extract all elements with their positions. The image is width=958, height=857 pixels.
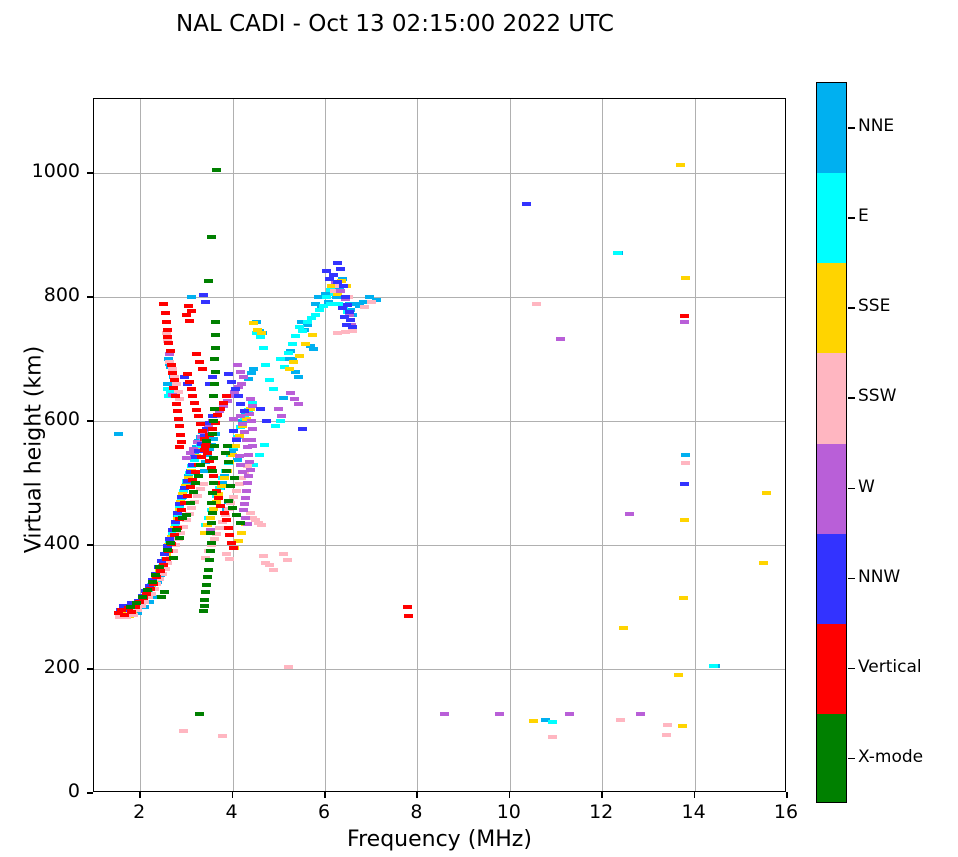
scatter-point — [212, 168, 221, 172]
colorbar-segment-ssw — [817, 353, 846, 444]
colorbar-segment-vertical — [817, 624, 846, 715]
scatter-point — [207, 521, 216, 525]
scatter-point — [241, 516, 250, 520]
scatter-point — [207, 501, 216, 505]
colorbar-tick — [848, 668, 855, 670]
scatter-point — [224, 499, 233, 503]
scatter-point — [342, 323, 351, 327]
scatter-point — [294, 402, 303, 406]
scatter-point — [616, 718, 625, 722]
scatter-point — [238, 470, 247, 474]
scatter-point — [336, 267, 345, 271]
scatter-point — [167, 363, 176, 367]
colorbar-label-nnw: NNW — [858, 567, 900, 587]
scatter-point — [529, 719, 538, 723]
scatter-point — [308, 333, 317, 337]
scatter-point — [284, 665, 293, 669]
scatter-point — [200, 604, 209, 608]
scatter-point — [208, 469, 217, 473]
scatter-point — [522, 202, 531, 206]
scatter-point — [298, 329, 307, 333]
scatter-point — [245, 460, 254, 464]
scatter-point — [271, 424, 280, 428]
scatter-point — [222, 518, 231, 522]
scatter-point — [440, 712, 449, 716]
scatter-point — [198, 429, 207, 433]
scatter-point — [210, 407, 219, 411]
scatter-point — [276, 357, 285, 361]
scatter-point — [209, 394, 218, 398]
scatter-point — [157, 595, 166, 599]
scatter-point — [170, 378, 179, 382]
x-tick — [786, 792, 788, 798]
scatter-point — [159, 302, 168, 306]
scatter-point — [332, 295, 341, 299]
x-tick-label: 12 — [571, 801, 631, 823]
x-tick — [509, 792, 511, 798]
x-tick — [416, 792, 418, 798]
y-tick — [87, 296, 93, 298]
scatter-point — [182, 313, 191, 317]
scatter-point — [678, 724, 687, 728]
scatter-point — [233, 363, 242, 367]
scatter-point — [218, 734, 227, 738]
scatter-point — [256, 407, 265, 411]
scatter-point — [269, 568, 278, 572]
scatter-point — [126, 605, 135, 609]
scatter-point — [210, 444, 219, 448]
scatter-point — [192, 352, 201, 356]
scatter-point — [203, 575, 212, 579]
scatter-point — [173, 409, 182, 413]
colorbar-label-sse: SSE — [858, 296, 890, 316]
scatter-point — [182, 456, 191, 460]
y-axis-label: Virtual height (km) — [22, 230, 47, 670]
scatter-point — [193, 494, 202, 498]
scatter-point — [298, 427, 307, 431]
scatter-point — [211, 370, 220, 374]
scatter-point — [680, 482, 689, 486]
scatter-point — [681, 461, 690, 465]
scatter-point — [229, 429, 238, 433]
scatter-point — [143, 588, 152, 592]
scatter-point — [231, 387, 240, 391]
scatter-point — [219, 401, 228, 405]
colorbar-tick — [848, 758, 855, 760]
scatter-point — [224, 526, 233, 530]
scatter-point — [222, 394, 231, 398]
scatter-point — [676, 163, 685, 167]
scatter-point — [209, 456, 218, 460]
scatter-point — [262, 419, 271, 423]
scatter-point — [222, 552, 231, 556]
scatter-point — [192, 408, 201, 412]
scatter-point — [187, 387, 196, 391]
scatter-point — [403, 605, 412, 609]
scatter-point — [226, 484, 235, 488]
scatter-point — [341, 295, 350, 299]
scatter-point — [206, 531, 215, 535]
scatter-point — [295, 354, 304, 358]
scatter-point — [210, 382, 219, 386]
colorbar-segment-x-mode — [817, 714, 846, 803]
colorbar-tick — [848, 578, 855, 580]
scatter-point — [338, 306, 347, 310]
scatter-point — [229, 417, 238, 421]
y-tick — [87, 792, 93, 794]
scatter-point — [239, 508, 248, 512]
scatter-point — [196, 422, 205, 426]
scatter-point — [202, 583, 211, 587]
scatter-point — [261, 363, 270, 367]
scatter-point — [223, 444, 232, 448]
scatter-point — [166, 349, 175, 353]
scatter-point — [260, 443, 269, 447]
scatter-point — [175, 424, 184, 428]
scatter-point — [241, 496, 250, 500]
scatter-point — [246, 397, 255, 401]
colorbar-tick — [848, 397, 855, 399]
scatter-point — [247, 419, 256, 423]
scatter-point — [495, 712, 504, 716]
scatter-point — [367, 300, 376, 304]
scatter-point — [345, 310, 354, 314]
y-tick — [87, 420, 93, 422]
scatter-point — [709, 664, 718, 668]
scatter-point — [162, 320, 171, 324]
scatter-point — [265, 378, 274, 382]
scatter-point — [163, 335, 172, 339]
scatter-point — [247, 438, 256, 442]
scatter-point — [174, 417, 183, 421]
scatter-point — [279, 396, 288, 400]
colorbar-tick — [848, 488, 855, 490]
scatter-point — [211, 320, 220, 324]
x-tick-label: 2 — [109, 801, 169, 823]
scatter-point — [194, 474, 203, 478]
scatter-point — [183, 494, 192, 498]
scatter-point — [613, 251, 622, 255]
scatter-point — [199, 609, 208, 613]
scatter-point — [274, 407, 283, 411]
x-tick — [324, 792, 326, 798]
x-tick — [139, 792, 141, 798]
plot-area — [93, 98, 786, 792]
scatter-point — [202, 439, 211, 443]
scatter-point — [208, 432, 217, 436]
scatter-point — [234, 394, 243, 398]
scatter-point — [680, 518, 689, 522]
scatter-point — [759, 561, 768, 565]
scatter-point — [286, 391, 295, 395]
scatter-point — [204, 279, 213, 283]
scatter-point — [404, 614, 413, 618]
scatter-point — [190, 401, 199, 405]
scatter-point — [276, 419, 285, 423]
scatter-point — [188, 394, 197, 398]
scatter-point — [249, 367, 258, 371]
scatter-point — [237, 382, 246, 386]
scatter-point — [186, 485, 195, 489]
scatter-point — [680, 320, 689, 324]
scatter-point — [242, 489, 251, 493]
scatter-point — [662, 733, 671, 737]
scatter-point — [228, 506, 237, 510]
scatter-point — [216, 504, 225, 508]
scatter-point — [248, 427, 257, 431]
scatter-point — [205, 558, 214, 562]
scatter-point — [114, 432, 123, 436]
scatter-point — [679, 596, 688, 600]
scatter-point — [240, 430, 249, 434]
colorbar-segment-w — [817, 444, 846, 535]
scatter-point — [227, 380, 236, 384]
colorbar-label-nne: NNE — [858, 116, 894, 136]
scatter-point — [155, 565, 164, 569]
scatter-point — [336, 289, 345, 293]
scatter-point — [187, 506, 196, 510]
scatter-point — [138, 595, 147, 599]
scatter-point — [127, 610, 136, 614]
scatter-point — [288, 342, 297, 346]
colorbar-segment-nnw — [817, 534, 846, 625]
scatter-point — [206, 549, 215, 553]
scatter-point — [237, 531, 246, 535]
scatter-point — [307, 316, 316, 320]
scatter-point — [284, 351, 293, 355]
scatter-point — [194, 414, 203, 418]
scatter-point — [186, 501, 195, 505]
scatter-point — [333, 261, 342, 265]
scatter-point — [548, 720, 557, 724]
scatter-point — [681, 276, 690, 280]
scatter-point — [172, 402, 181, 406]
scatter-point — [201, 590, 210, 594]
scatter-point — [348, 329, 357, 333]
scatter-point — [240, 409, 249, 413]
x-tick-label: 6 — [294, 801, 354, 823]
y-tick — [87, 172, 93, 174]
scatter-point — [209, 419, 218, 423]
scatter-point — [239, 375, 248, 379]
scatter-point — [532, 302, 541, 306]
scatter-point — [213, 413, 222, 417]
scatter-point — [232, 438, 241, 442]
y-tick — [87, 668, 93, 670]
scatter-point — [151, 573, 160, 577]
scatter-point — [224, 372, 233, 376]
scatter-point — [236, 521, 245, 525]
x-tick-label: 10 — [479, 801, 539, 823]
scatter-point — [208, 511, 217, 515]
scatter-point — [235, 454, 244, 458]
scatter-point — [191, 481, 200, 485]
colorbar-segment-e — [817, 173, 846, 264]
scatter-point — [340, 315, 349, 319]
scatter-point — [207, 541, 216, 545]
scatter-point — [209, 481, 218, 485]
colorbar-segment-nne — [817, 83, 846, 174]
x-tick-label: 16 — [756, 801, 816, 823]
scatter-point — [175, 536, 184, 540]
azimuth-colorbar — [816, 82, 847, 803]
scatter-point — [209, 474, 218, 478]
scatter-point — [201, 300, 210, 304]
scatter-point — [183, 372, 192, 376]
scatter-point — [187, 295, 196, 299]
colorbar-label-w: W — [858, 477, 875, 497]
scatter-point — [208, 427, 217, 431]
scatter-point — [294, 375, 303, 379]
scatter-point — [175, 445, 184, 449]
scatter-point — [198, 367, 207, 371]
scatter-point — [196, 463, 205, 467]
scatter-point — [171, 394, 180, 398]
x-tick — [694, 792, 696, 798]
colorbar-tick — [848, 127, 855, 129]
x-tick — [232, 792, 234, 798]
scatter-point — [311, 313, 320, 317]
scatter-point — [291, 334, 300, 338]
scatter-point — [309, 347, 318, 351]
ionogram-figure: NAL CADI - Oct 13 02:15:00 2022 UTC 2468… — [0, 0, 958, 857]
scatter-point — [762, 491, 771, 495]
scatter-point — [565, 712, 574, 716]
scatter-point — [636, 712, 645, 716]
scatter-point — [211, 346, 220, 350]
scatter-point — [360, 305, 369, 309]
scatter-point — [230, 476, 239, 480]
scatter-point — [674, 673, 683, 677]
scatter-point — [199, 293, 208, 297]
scatter-point — [164, 341, 173, 345]
scatter-point — [179, 729, 188, 733]
scatter-point — [303, 320, 312, 324]
scatter-point — [148, 580, 157, 584]
colorbar-tick — [848, 217, 855, 219]
colorbar-label-e: E — [858, 206, 869, 226]
y-tick — [87, 544, 93, 546]
scatter-point — [236, 402, 245, 406]
scatter-point — [187, 309, 196, 313]
scatter-point — [178, 516, 187, 520]
scatter-point — [132, 601, 141, 605]
x-tick-label: 4 — [202, 801, 262, 823]
scatter-point — [315, 308, 324, 312]
scatter-point — [163, 328, 172, 332]
scatter-point — [222, 469, 231, 473]
scatter-point — [208, 491, 217, 495]
scatter-point — [265, 563, 274, 567]
x-tick — [601, 792, 603, 798]
scatter-point — [189, 490, 198, 494]
scatter-point — [177, 508, 186, 512]
colorbar-segment-sse — [817, 263, 846, 354]
scatter-point — [184, 304, 193, 308]
y-tick-label: 0 — [0, 780, 80, 802]
scatter-point — [548, 735, 557, 739]
scatter-point — [277, 414, 286, 418]
scatter-point — [207, 235, 216, 239]
scatter-points — [94, 99, 785, 791]
scatter-point — [290, 397, 299, 401]
scatter-point — [257, 523, 266, 527]
scatter-point — [295, 325, 304, 329]
scatter-point — [231, 444, 240, 448]
scatter-point — [663, 723, 672, 727]
scatter-point — [204, 568, 213, 572]
scatter-point — [259, 346, 268, 350]
scatter-point — [200, 598, 209, 602]
scatter-point — [236, 370, 245, 374]
scatter-point — [322, 295, 331, 299]
x-axis-label: Frequency (MHz) — [93, 827, 786, 852]
scatter-point — [169, 386, 178, 390]
scatter-point — [259, 554, 268, 558]
scatter-point — [248, 444, 257, 448]
colorbar-label-vertical: Vertical — [858, 657, 922, 677]
scatter-point — [169, 556, 178, 560]
colorbar-label-x-mode: X-mode — [858, 747, 923, 767]
scatter-point — [240, 502, 249, 506]
scatter-point — [172, 528, 181, 532]
scatter-point — [220, 511, 229, 515]
scatter-point — [185, 380, 194, 384]
scatter-point — [206, 516, 215, 520]
scatter-point — [214, 496, 223, 500]
scatter-point — [163, 548, 172, 552]
scatter-point — [210, 357, 219, 361]
scatter-point — [283, 558, 292, 562]
x-tick-label: 14 — [664, 801, 724, 823]
x-tick-label: 8 — [386, 801, 446, 823]
scatter-point — [232, 513, 241, 517]
scatter-point — [185, 319, 194, 323]
scatter-point — [221, 451, 230, 455]
scatter-point — [326, 302, 335, 306]
scatter-point — [279, 552, 288, 556]
scatter-point — [681, 453, 690, 457]
scatter-point — [195, 360, 204, 364]
scatter-point — [224, 460, 233, 464]
scatter-point — [244, 453, 253, 457]
scatter-point — [680, 314, 689, 318]
scatter-point — [339, 284, 348, 288]
y-tick-label: 1000 — [0, 160, 80, 182]
scatter-point — [301, 342, 310, 346]
scatter-point — [243, 481, 252, 485]
scatter-point — [249, 321, 258, 325]
scatter-point — [208, 375, 217, 379]
scatter-point — [619, 626, 628, 630]
scatter-point — [165, 352, 174, 356]
chart-title: NAL CADI - Oct 13 02:15:00 2022 UTC — [0, 11, 790, 37]
scatter-point — [244, 474, 253, 478]
scatter-point — [256, 335, 265, 339]
scatter-point — [227, 541, 236, 545]
scatter-point — [289, 360, 298, 364]
scatter-point — [225, 533, 234, 537]
scatter-point — [625, 512, 634, 516]
scatter-point — [232, 489, 241, 493]
scatter-point — [195, 712, 204, 716]
scatter-point — [329, 273, 338, 277]
scatter-point — [166, 541, 175, 545]
scatter-point — [229, 546, 238, 550]
scatter-point — [211, 333, 220, 337]
scatter-point — [269, 387, 278, 391]
scatter-point — [168, 371, 177, 375]
